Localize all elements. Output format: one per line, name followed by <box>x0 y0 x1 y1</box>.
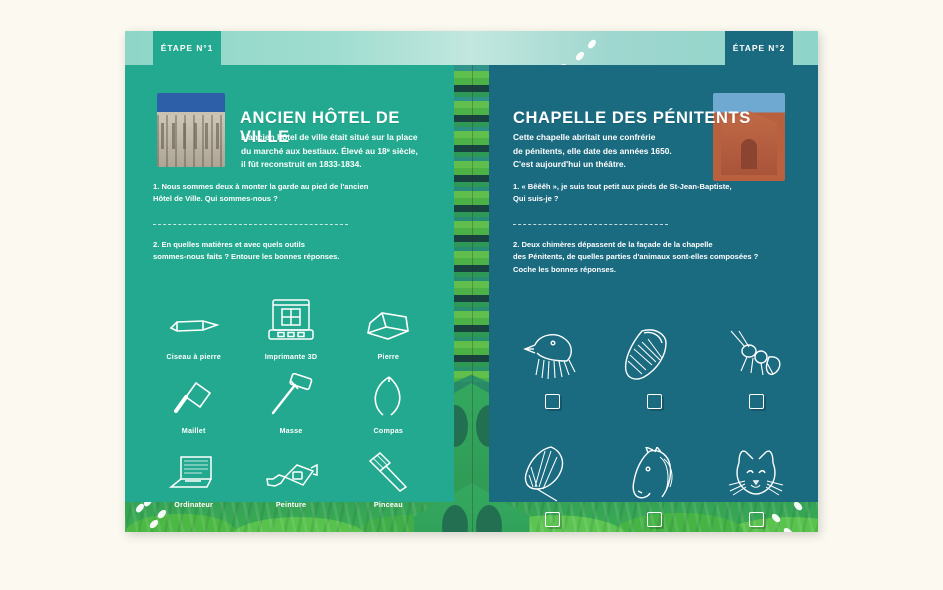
option-chat[interactable] <box>705 409 807 527</box>
left-intro-line-1: L'ancien hôtel de ville était situé sur … <box>241 131 441 145</box>
right-question-1: 1. « Bêêêh », je suis tout petit aux pie… <box>513 181 813 206</box>
right-q1-line-1: 1. « Bêêêh », je suis tout petit aux pie… <box>513 181 813 193</box>
option-label: Compas <box>374 426 404 435</box>
top-band <box>125 31 818 65</box>
right-q2-line-1: 2. Deux chimères dépassent de la façade … <box>513 239 813 251</box>
tab-etape-2[interactable]: ÉTAPE N°2 <box>725 31 793 65</box>
option-label: Pierre <box>378 352 400 361</box>
left-q2-line-1: 2. En quelles matières et avec quels out… <box>153 239 443 251</box>
option-label: Peinture <box>276 500 306 509</box>
paintbrush-icon <box>364 451 412 493</box>
option-maillet[interactable]: Maillet <box>145 361 242 435</box>
right-answer-line-1[interactable] <box>513 224 668 225</box>
horse-head-icon <box>624 447 684 503</box>
option-pinceau[interactable]: Pinceau <box>340 435 437 509</box>
left-intro-line-3: il fût reconstruit en 1833-1834. <box>241 158 441 172</box>
right-intro-line-3: C'est aujourd'hui un théâtre. <box>513 158 713 172</box>
option-cheval[interactable] <box>603 409 705 527</box>
left-options-grid: Ciseau à pierre Imprimante 3D <box>145 287 437 509</box>
left-question-1: 1. Nous sommes deux à monter la garde au… <box>153 181 443 206</box>
checkbox-aigle[interactable] <box>545 394 560 409</box>
left-question-2: 2. En quelles matières et avec quels out… <box>153 239 443 264</box>
tab-etape-1[interactable]: ÉTAPE N°1 <box>153 31 221 65</box>
left-page-panel: ANCIEN HÔTEL DE VILLE L'ancien hôtel de … <box>125 65 454 502</box>
option-compas[interactable]: Compas <box>340 361 437 435</box>
option-label: Masse <box>280 426 303 435</box>
left-q1-line-2: Hôtel de Ville. Qui sommes-nous ? <box>153 193 443 205</box>
right-q2-line-3: Coche les bonnes réponses. <box>513 264 813 276</box>
left-q1-line-1: 1. Nous sommes deux à monter la garde au… <box>153 181 443 193</box>
butterfly-wing-icon <box>521 443 583 503</box>
option-imprimante-3d[interactable]: Imprimante 3D <box>242 287 339 361</box>
option-masse[interactable]: Masse <box>242 361 339 435</box>
left-page-intro: L'ancien hôtel de ville était situé sur … <box>241 131 441 172</box>
left-page-photo <box>157 93 225 167</box>
right-page-intro: Cette chapelle abritait une confrérie de… <box>513 131 713 172</box>
checkbox-cheval[interactable] <box>647 512 662 527</box>
option-label: Imprimante 3D <box>265 352 318 361</box>
right-options-grid <box>501 291 807 527</box>
option-aigle[interactable] <box>501 291 603 409</box>
checkbox-chat[interactable] <box>749 512 764 527</box>
option-peinture[interactable]: Peinture <box>242 435 339 509</box>
sledgehammer-icon <box>267 373 315 419</box>
option-label: Pinceau <box>374 500 403 509</box>
right-q1-line-2: Qui suis-je ? <box>513 193 813 205</box>
option-ordinateur[interactable]: Ordinateur <box>145 435 242 509</box>
compass-icon <box>367 373 409 419</box>
checkbox-aile-papillon[interactable] <box>545 512 560 527</box>
ant-icon <box>725 329 787 385</box>
chisel-icon <box>167 309 221 345</box>
left-q2-line-2: sommes-nous faits ? Entoure les bonnes r… <box>153 251 443 263</box>
mallet-icon <box>170 377 218 419</box>
eagle-head-icon <box>521 329 583 385</box>
option-fourmi[interactable] <box>705 291 807 409</box>
laptop-icon <box>167 453 221 493</box>
option-ciseau-a-pierre[interactable]: Ciseau à pierre <box>145 287 242 361</box>
option-label: Ciseau à pierre <box>166 352 221 361</box>
left-answer-line-1[interactable] <box>153 224 348 225</box>
cat-head-icon <box>725 447 787 503</box>
checkbox-fourmi[interactable] <box>749 394 764 409</box>
right-page-title: CHAPELLE DES PÉNITENTS <box>513 109 753 128</box>
option-label: Ordinateur <box>174 500 213 509</box>
book-spine-fold <box>472 31 473 532</box>
stone-block-icon <box>362 309 414 345</box>
option-label: Maillet <box>182 426 206 435</box>
paint-tube-icon <box>263 459 319 493</box>
right-intro-line-2: de pénitents, elle date des années 1650. <box>513 145 713 159</box>
right-intro-line-1: Cette chapelle abritait une confrérie <box>513 131 713 145</box>
left-intro-line-2: du marché aux bestiaux. Élevé au 18ᵉ siè… <box>241 145 441 159</box>
right-page-panel: CHAPELLE DES PÉNITENTS Cette chapelle ab… <box>489 65 818 502</box>
wing-icon <box>622 327 686 385</box>
option-pierre[interactable]: Pierre <box>340 287 437 361</box>
booklet-spread: ÉTAPE N°1 ANCIEN HÔTEL DE VILLE L'ancien… <box>125 31 818 532</box>
screenshot-canvas: ÉTAPE N°1 ANCIEN HÔTEL DE VILLE L'ancien… <box>0 0 943 590</box>
option-aile[interactable] <box>603 291 705 409</box>
option-aile-papillon[interactable] <box>501 409 603 527</box>
right-page-photo <box>713 93 785 181</box>
checkbox-aile[interactable] <box>647 394 662 409</box>
right-q2-line-2: des Pénitents, de quelles parties d'anim… <box>513 251 813 263</box>
printer-3d-icon <box>265 297 317 345</box>
right-question-2: 2. Deux chimères dépassent de la façade … <box>513 239 813 276</box>
